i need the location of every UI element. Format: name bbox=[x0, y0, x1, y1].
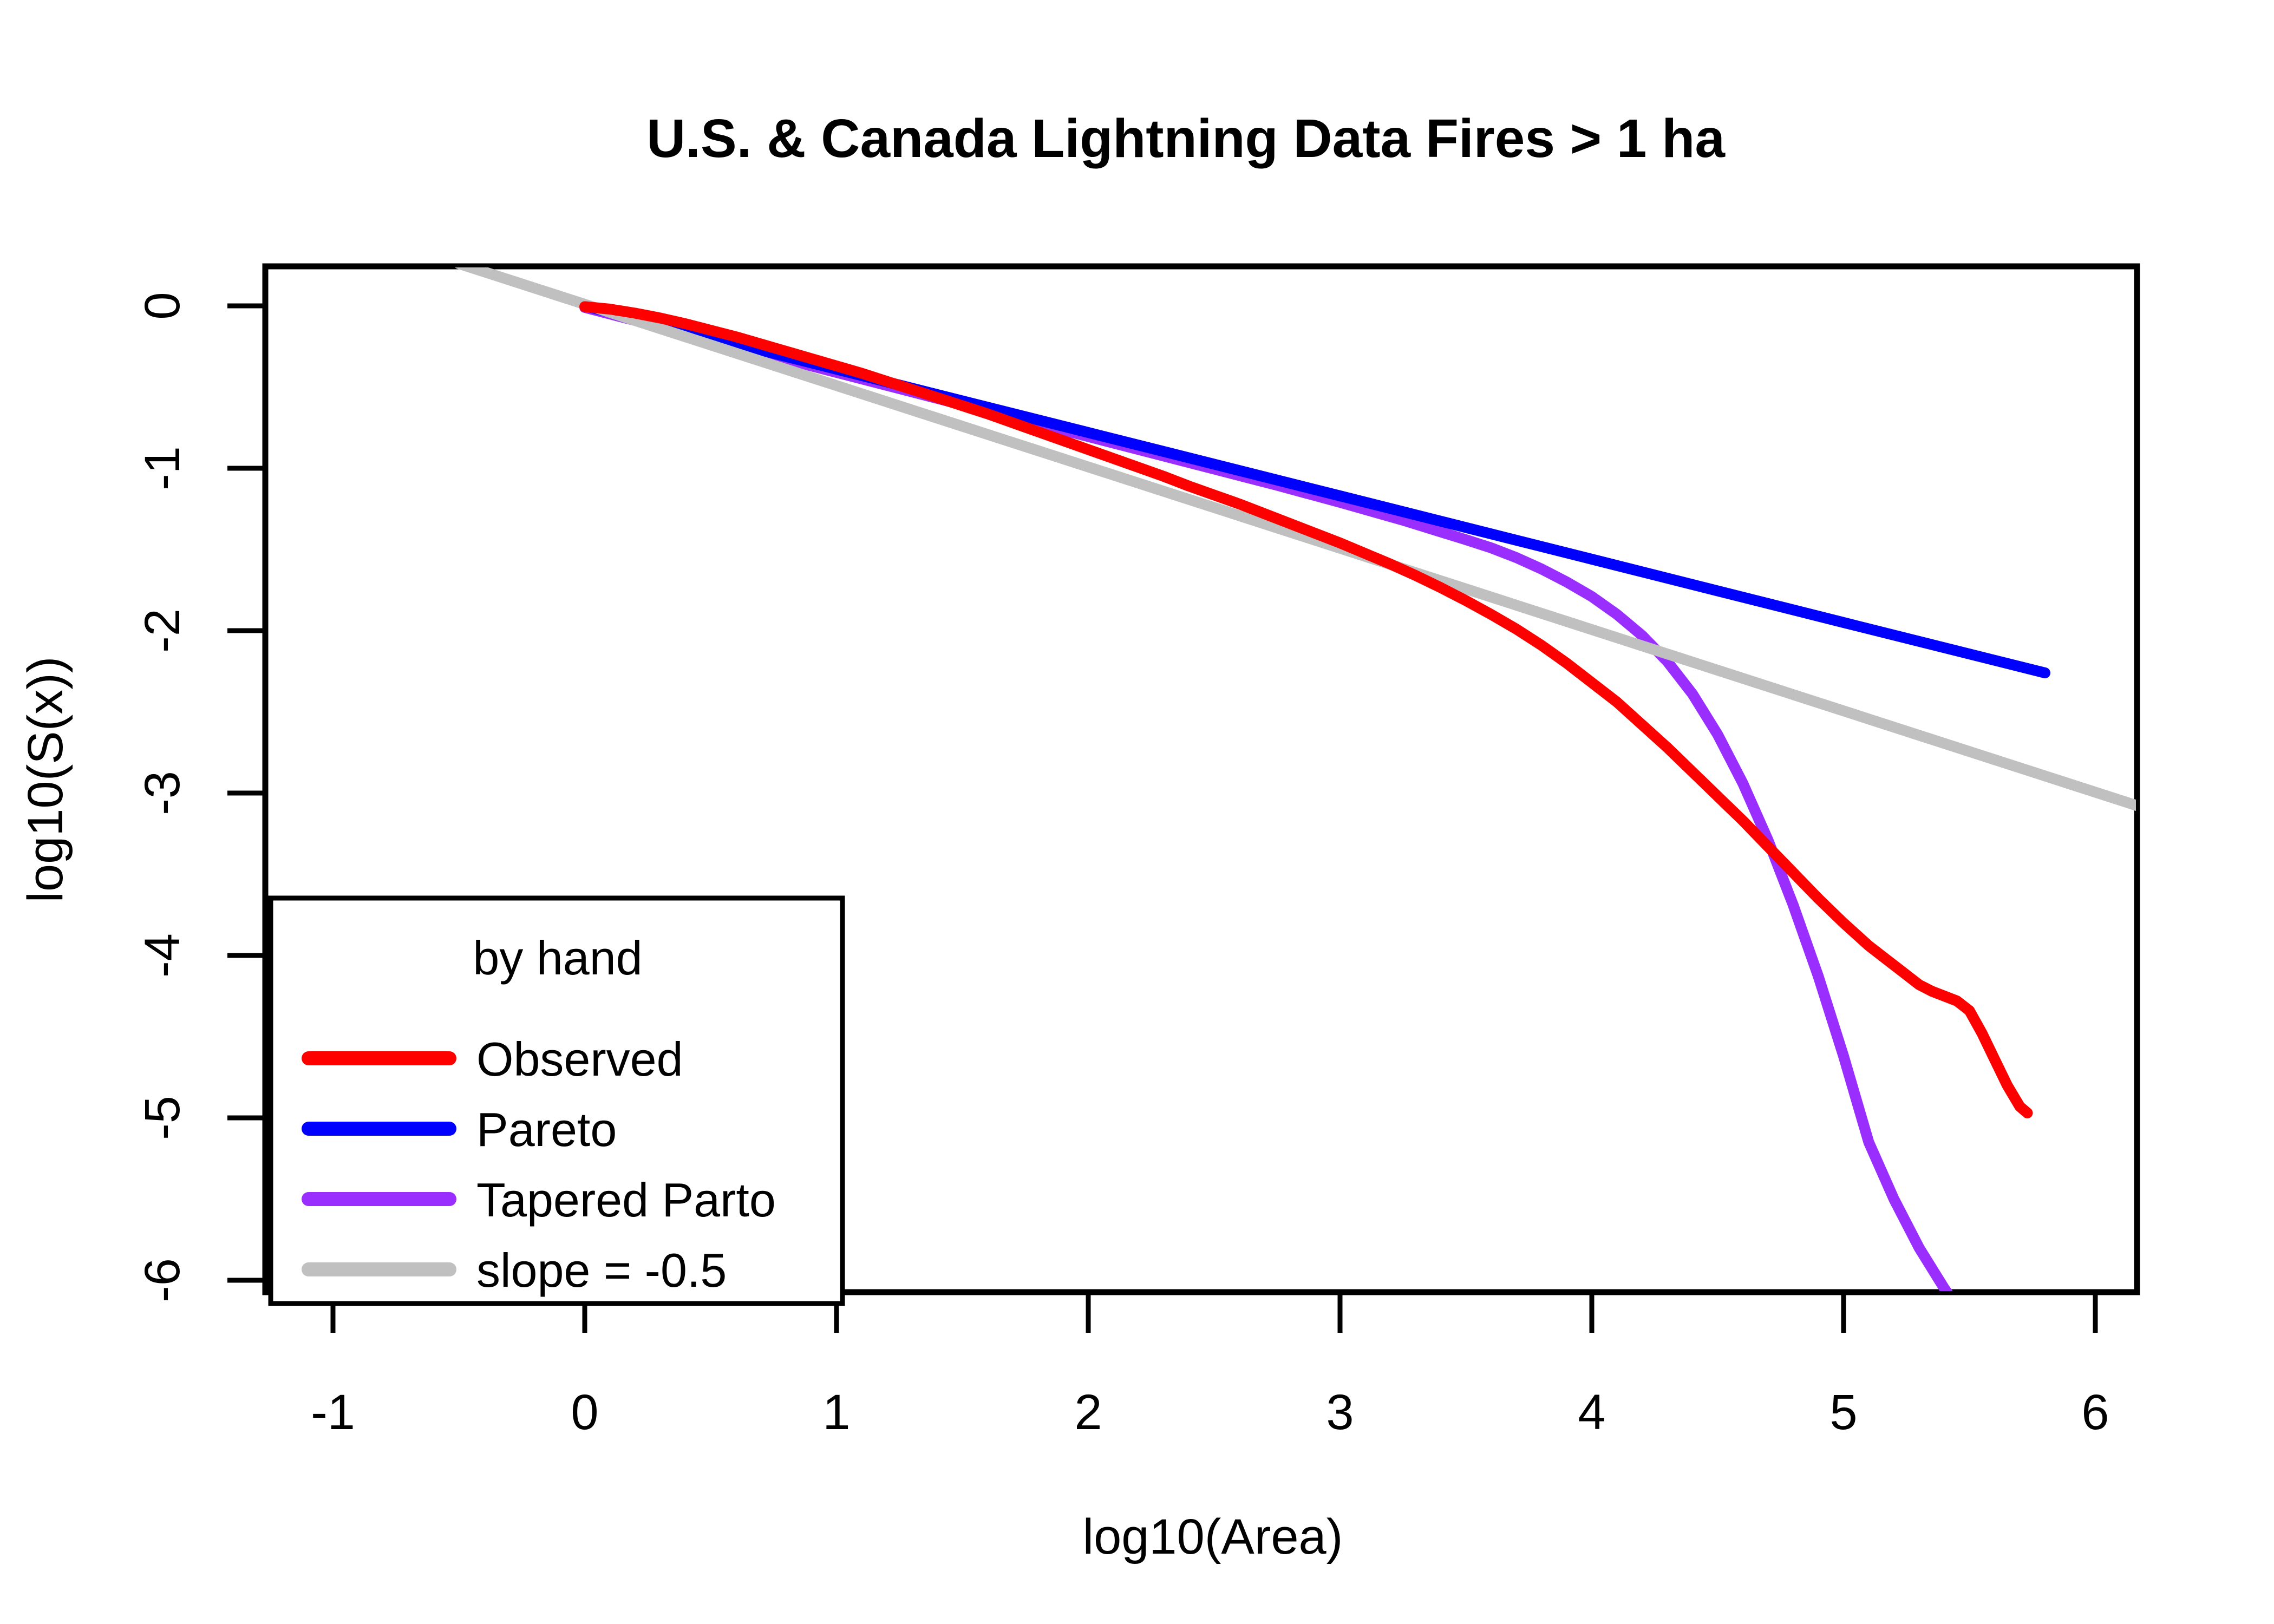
x-tick-label: 0 bbox=[571, 1385, 598, 1440]
y-tick-label: -3 bbox=[135, 771, 190, 815]
y-tick-label: -6 bbox=[135, 1258, 190, 1302]
x-axis-ticks: -10123456 bbox=[311, 1292, 2109, 1440]
plot-svg: U.S. & Canada Lightning Data Fires > 1 h… bbox=[0, 0, 2274, 1624]
legend-label: Pareto bbox=[476, 1103, 617, 1156]
x-tick-label: 1 bbox=[822, 1385, 850, 1440]
legend-label: Tapered Parto bbox=[476, 1173, 776, 1227]
chart-legend: by hand ObservedParetoTapered Partoslope… bbox=[271, 898, 842, 1304]
legend-label: Observed bbox=[476, 1032, 683, 1086]
x-axis-label: log10(Area) bbox=[1083, 1509, 1343, 1564]
x-tick-label: 6 bbox=[2081, 1385, 2109, 1440]
y-tick-label: 0 bbox=[135, 292, 190, 319]
page-title: U.S. & Canada Lightning Data Fires > 1 h… bbox=[646, 108, 1726, 169]
y-axis-label: log10(S(x)) bbox=[18, 656, 73, 902]
y-axis-ticks: 0-1-2-3-4-5-6 bbox=[135, 292, 265, 1302]
x-tick-label: 3 bbox=[1326, 1385, 1354, 1440]
y-tick-label: -2 bbox=[135, 608, 190, 653]
legend-title: by hand bbox=[473, 931, 642, 985]
x-tick-label: 5 bbox=[1829, 1385, 1857, 1440]
chart-canvas: U.S. & Canada Lightning Data Fires > 1 h… bbox=[0, 0, 2274, 1624]
y-tick-label: -1 bbox=[135, 446, 190, 490]
y-tick-label: -5 bbox=[135, 1096, 190, 1140]
y-tick-label: -4 bbox=[135, 933, 190, 978]
x-tick-label: 4 bbox=[1578, 1385, 1605, 1440]
x-tick-label: -1 bbox=[311, 1385, 355, 1440]
legend-label: slope = -0.5 bbox=[476, 1243, 727, 1297]
x-tick-label: 2 bbox=[1074, 1385, 1102, 1440]
series-line bbox=[459, 264, 2139, 806]
